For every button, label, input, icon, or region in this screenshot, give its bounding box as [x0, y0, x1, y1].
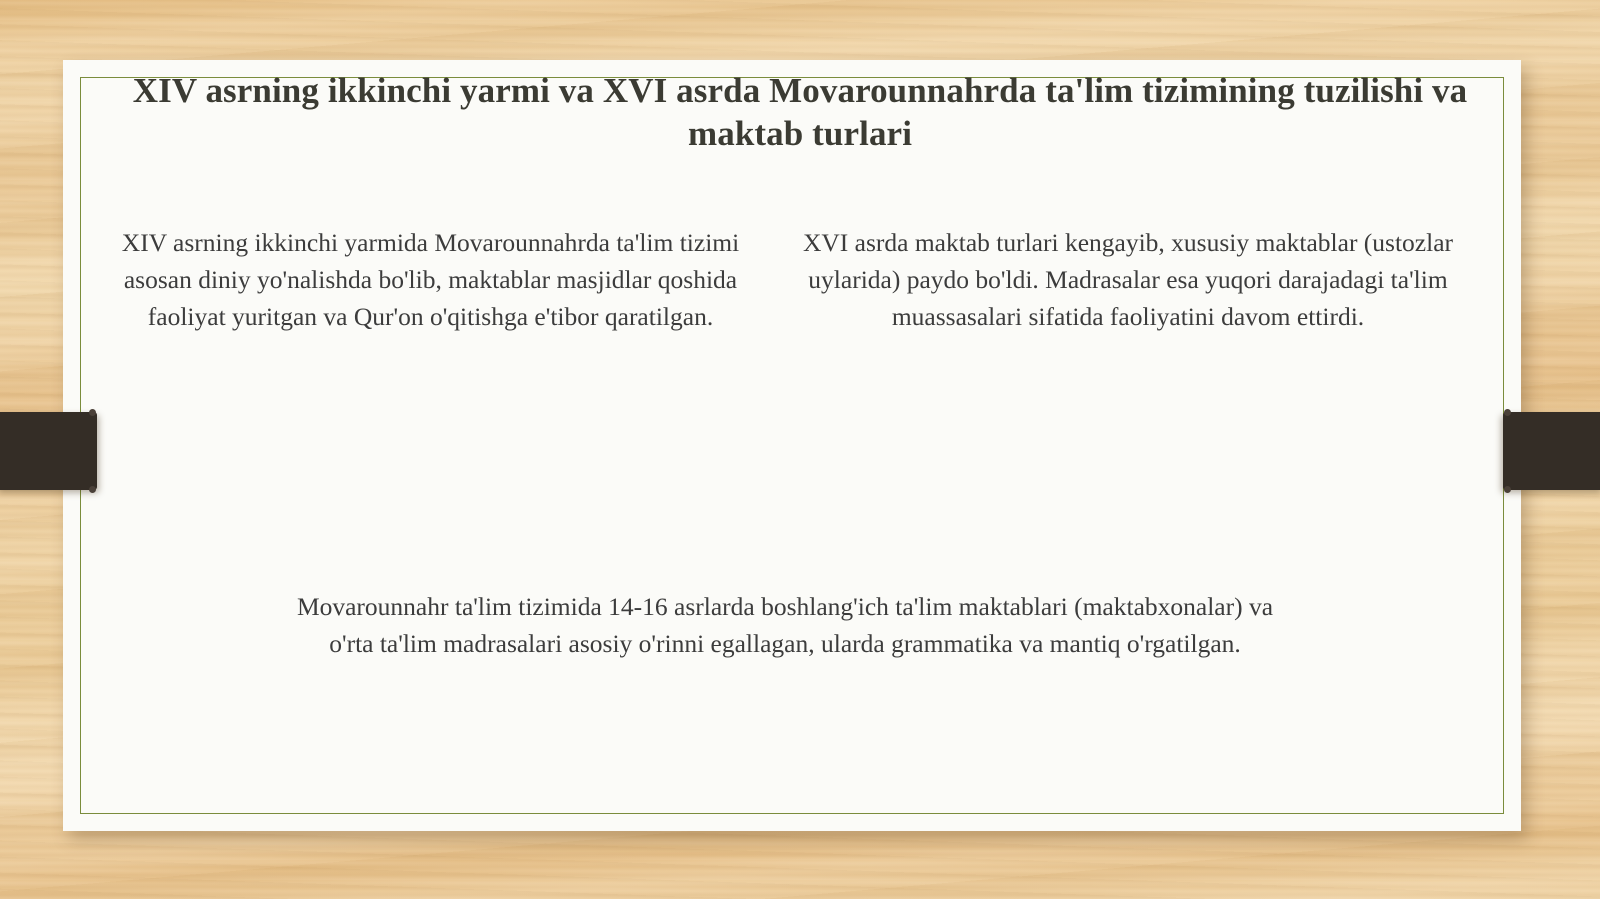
- ribbon-cap-bottom-right-icon: [1504, 486, 1511, 493]
- slide-canvas: XIV asrning ikkinchi yarmi va XVI asrda …: [0, 0, 1600, 899]
- decorative-ribbon-left: [0, 412, 97, 490]
- content-card: [63, 60, 1521, 831]
- slide-title: XIV asrning ikkinchi yarmi va XVI asrda …: [120, 69, 1480, 155]
- left-column-text: XIV asrning ikkinchi yarmida Movarounnah…: [104, 224, 757, 335]
- bottom-summary-text: Movarounnahr ta'lim tizimida 14-16 asrla…: [280, 588, 1290, 662]
- ribbon-cap-top-right-icon: [1504, 409, 1511, 416]
- card-inner-border: [80, 77, 1504, 814]
- ribbon-cap-bottom-left-icon: [89, 486, 96, 493]
- decorative-ribbon-right: [1503, 412, 1600, 490]
- right-column-text: XVI asrda maktab turlari kengayib, xusus…: [783, 224, 1473, 335]
- ribbon-cap-top-left-icon: [89, 409, 96, 416]
